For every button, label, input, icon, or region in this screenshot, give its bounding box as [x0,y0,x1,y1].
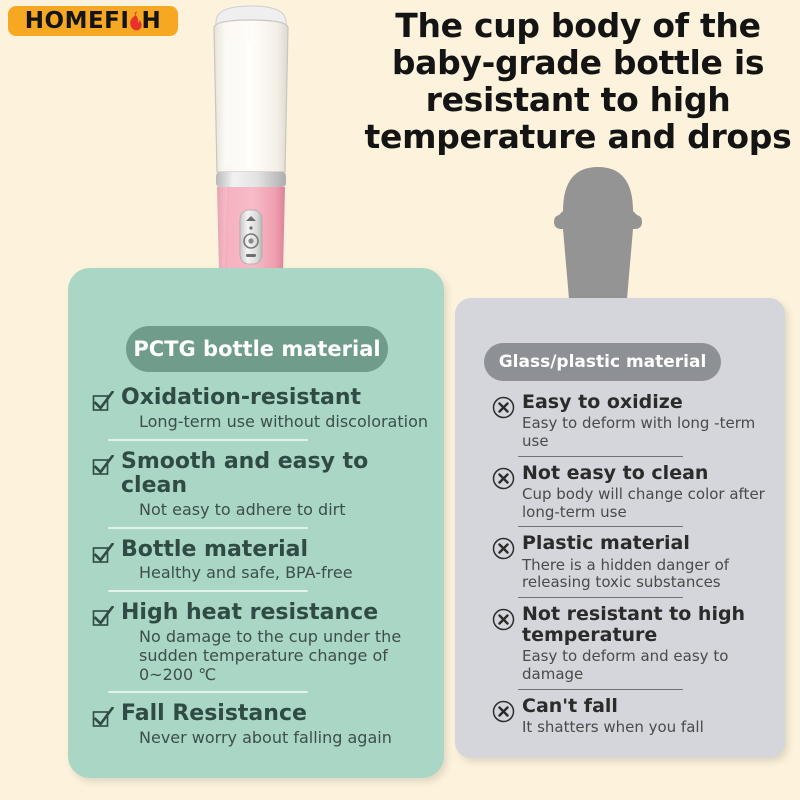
list-divider [108,439,308,441]
list-divider [518,689,683,690]
list-item: Not easy to clean Cup body will change c… [492,463,780,522]
list-item-desc: Cup body will change color after long-te… [522,486,780,521]
list-item-title: Easy to oxidize [522,391,683,413]
brand-name-before: HOMEFI [25,10,130,33]
list-item: Not resistant to high temperature Easy t… [492,604,780,684]
list-item-title: High heat resistance [121,600,378,625]
brand-logo: HOMEFI H [8,6,178,36]
glass-plastic-drawback-list: Easy to oxidize Easy to deform with long… [492,392,780,739]
list-item: Can't fall It shatters when you fall [492,696,780,737]
circle-x-icon [492,467,515,490]
list-item: Smooth and easy to clean Not easy to adh… [92,450,432,520]
list-item-desc: There is a hidden danger of releasing to… [522,557,780,592]
list-divider [108,590,308,592]
list-item-desc: No damage to the cup under the sudden te… [121,628,432,685]
list-item-desc: It shatters when you fall [522,719,780,737]
circle-x-icon [492,537,515,560]
list-item-title: Not resistant to high temperature [522,603,745,646]
list-item-title: Plastic material [522,532,690,554]
list-item: Oxidation-resistant Long-term use withou… [92,386,432,432]
list-item: Fall Resistance Never worry about fallin… [92,702,432,748]
page-headline: The cup body of the baby-grade bottle is… [360,8,796,156]
portable-blender-photo [196,0,306,288]
list-item-desc: Easy to deform and easy to damage [522,648,780,683]
list-item-desc: Easy to deform with long -term use [522,415,780,450]
checkbox-checked-icon [92,543,114,565]
list-item-desc: Not easy to adhere to dirt [121,501,432,520]
checkbox-checked-icon [92,707,114,729]
list-item-title: Can't fall [522,695,618,717]
list-divider [108,527,308,529]
list-item-desc: Long-term use without discoloration [121,413,432,432]
list-item: High heat resistance No damage to the cu… [92,601,432,684]
list-item-title: Bottle material [121,537,308,562]
list-divider [518,456,683,457]
pctg-feature-list: Oxidation-resistant Long-term use withou… [92,386,432,752]
panel-pctg-header: PCTG bottle material [126,326,388,372]
circle-x-icon [492,700,515,723]
flame-icon [128,10,142,32]
checkbox-checked-icon [92,606,114,628]
list-divider [518,597,683,598]
checkbox-checked-icon [92,391,114,413]
brand-logo-text: HOMEFI H [25,10,161,33]
list-item-title: Smooth and easy to clean [121,449,368,499]
list-item-desc: Never worry about falling again [121,729,432,748]
list-item: Bottle material Healthy and safe, BPA-fr… [92,538,432,584]
panel-glass-plastic-header: Glass/plastic material [484,343,721,381]
circle-x-icon [492,396,515,419]
list-divider [108,691,308,693]
list-item-title: Fall Resistance [121,701,307,726]
list-item-title: Oxidation-resistant [121,385,361,410]
list-item: Easy to oxidize Easy to deform with long… [492,392,780,451]
list-divider [518,526,683,527]
list-item: Plastic material There is a hidden dange… [492,533,780,592]
list-item-title: Not easy to clean [522,462,708,484]
brand-name-after: H [141,10,161,33]
list-item-desc: Healthy and safe, BPA-free [121,564,432,583]
checkbox-checked-icon [92,455,114,477]
circle-x-icon [492,608,515,631]
